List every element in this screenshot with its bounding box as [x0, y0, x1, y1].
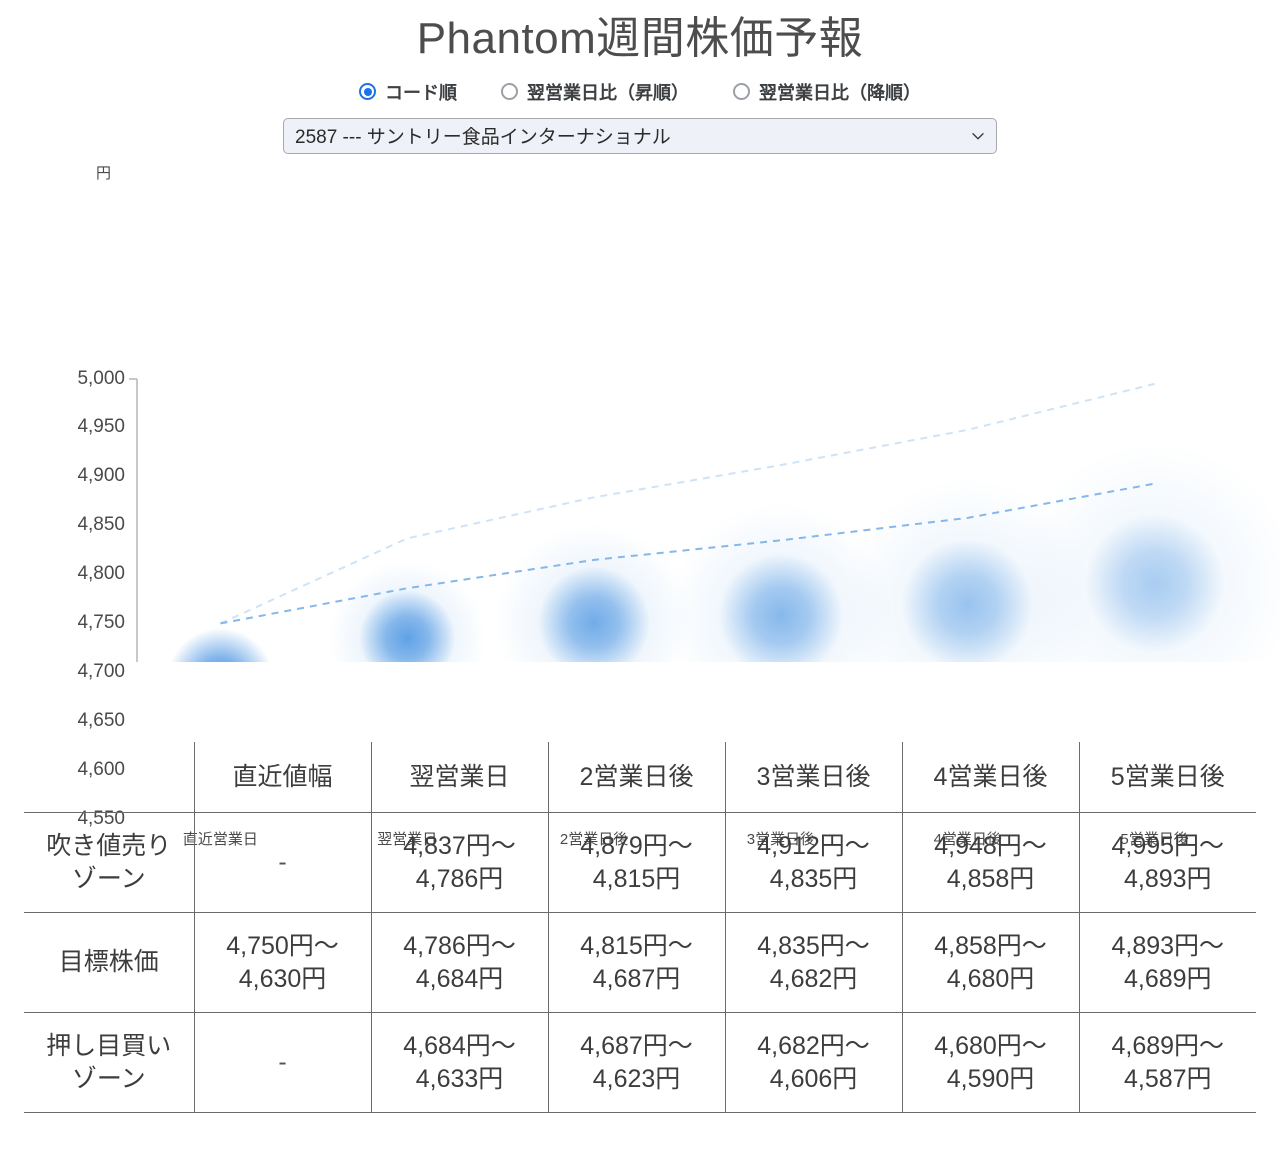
table-row-header: 目標株価 — [24, 913, 194, 1013]
cell-line1: 4,750円～ — [199, 930, 367, 963]
cell-line2: 4,786円 — [376, 863, 544, 896]
y-axis-tick: 4,900 — [45, 465, 125, 487]
sort-radio-label: 翌営業日比（昇順） — [527, 79, 689, 105]
sort-radio-group: コード順翌営業日比（昇順）翌営業日比（降順） — [0, 79, 1280, 105]
stock-select-value: 2587 --- サントリー食品インターナショナル — [295, 122, 963, 149]
cell-line2: 4,606円 — [730, 1063, 898, 1096]
cell-line1: 4,995円～ — [1084, 830, 1253, 863]
table-cell: 4,682円～4,606円 — [725, 1013, 902, 1113]
table-cell: 4,684円～4,633円 — [371, 1013, 548, 1113]
stock-select-wrap: 2587 --- サントリー食品インターナショナル — [0, 118, 1280, 154]
cell-line2: 4,633円 — [376, 1063, 544, 1096]
table-cell: 4,687円～4,623円 — [548, 1013, 725, 1113]
table-column-header: 直近値幅 — [194, 742, 371, 813]
cell-line1: 4,786円～ — [376, 930, 544, 963]
table-row-header: 吹き値売りゾーン — [24, 813, 194, 913]
table-cell: - — [194, 1013, 371, 1113]
radio-unselected-icon[interactable] — [501, 83, 518, 100]
table-cell: 4,786円～4,684円 — [371, 913, 548, 1013]
y-axis-tick: 4,850 — [45, 514, 125, 536]
chevron-down-icon — [971, 129, 985, 143]
cell-line2: 4,684円 — [376, 963, 544, 996]
table-column-header: 2営業日後 — [548, 742, 725, 813]
table-cell: 4,689円～4,587円 — [1079, 1013, 1256, 1113]
cell-line2: 4,835円 — [730, 863, 898, 896]
cell-line2: 4,590円 — [907, 1063, 1075, 1096]
table-header-row: 直近値幅翌営業日2営業日後3営業日後4営業日後5営業日後 — [24, 742, 1256, 813]
y-axis-unit-label: 円 — [96, 162, 111, 183]
cell-line2: 4,630円 — [199, 963, 367, 996]
page-title: Phantom週間株価予報 — [0, 0, 1280, 65]
sort-radio-option-2[interactable]: 翌営業日比（降順） — [733, 79, 921, 105]
table-cell: 4,879円～4,815円 — [548, 813, 725, 913]
table-cell: 4,835円～4,682円 — [725, 913, 902, 1013]
table-cell: 4,995円～4,893円 — [1079, 813, 1256, 913]
radio-selected-icon[interactable] — [359, 83, 376, 100]
cell-line1: 4,837円～ — [376, 830, 544, 863]
table-row: 目標株価4,750円～4,630円4,786円～4,684円4,815円～4,6… — [24, 913, 1256, 1013]
table-row: 吹き値売りゾーン-4,837円～4,786円4,879円～4,815円4,912… — [24, 813, 1256, 913]
table-column-header: 4営業日後 — [902, 742, 1079, 813]
cell-line1: 4,858円～ — [907, 930, 1075, 963]
stock-select[interactable]: 2587 --- サントリー食品インターナショナル — [283, 118, 997, 154]
table-cell: 4,858円～4,680円 — [902, 913, 1079, 1013]
forecast-bubble-chart: 円 5,0004,9504,9004,8504,8004,7504,7004,6… — [0, 162, 1280, 662]
table-cell: 4,680円～4,590円 — [902, 1013, 1079, 1113]
table-row-header: 押し目買いゾーン — [24, 1013, 194, 1113]
cell-line1: 4,815円～ — [553, 930, 721, 963]
cell-line2: 4,858円 — [907, 863, 1075, 896]
y-axis-tick: 4,950 — [45, 416, 125, 438]
table-cell: 4,815円～4,687円 — [548, 913, 725, 1013]
table-cell: 4,750円～4,630円 — [194, 913, 371, 1013]
cell-line1: - — [199, 846, 367, 879]
table-column-header: 翌営業日 — [371, 742, 548, 813]
cell-line1: 4,835円～ — [730, 930, 898, 963]
sort-radio-label: 翌営業日比（降順） — [759, 79, 921, 105]
forecast-table: 直近値幅翌営業日2営業日後3営業日後4営業日後5営業日後 吹き値売りゾーン-4,… — [24, 742, 1256, 1113]
row-header-line1: 目標株価 — [28, 946, 190, 979]
cell-line2: 4,689円 — [1084, 963, 1253, 996]
table-column-header: 3営業日後 — [725, 742, 902, 813]
cell-line2: 4,623円 — [553, 1063, 721, 1096]
cell-line2: 4,687円 — [553, 963, 721, 996]
cell-line2: 4,682円 — [730, 963, 898, 996]
row-header-line1: 吹き値売り — [28, 830, 190, 863]
row-header-line2: ゾーン — [28, 1063, 190, 1096]
y-axis-tick: 4,800 — [45, 563, 125, 585]
row-header-line2: ゾーン — [28, 863, 190, 896]
table-corner-cell — [24, 742, 194, 813]
cell-line1: 4,684円～ — [376, 1030, 544, 1063]
cell-line1: 4,893円～ — [1084, 930, 1253, 963]
cell-line1: 4,682円～ — [730, 1030, 898, 1063]
forecast-table-wrap: 直近値幅翌営業日2営業日後3営業日後4営業日後5営業日後 吹き値売りゾーン-4,… — [24, 742, 1256, 1113]
table-cell: 4,912円～4,835円 — [725, 813, 902, 913]
cell-line1: 4,689円～ — [1084, 1030, 1253, 1063]
cell-line2: 4,587円 — [1084, 1063, 1253, 1096]
row-header-line1: 押し目買い — [28, 1030, 190, 1063]
cell-line1: 4,680円～ — [907, 1030, 1075, 1063]
cell-line1: 4,912円～ — [730, 830, 898, 863]
y-axis-tick: 4,650 — [45, 710, 125, 732]
cell-line1: 4,687円～ — [553, 1030, 721, 1063]
cell-line1: - — [199, 1046, 367, 1079]
y-axis-tick: 4,700 — [45, 661, 125, 683]
cell-line1: 4,948円～ — [907, 830, 1075, 863]
cell-line1: 4,879円～ — [553, 830, 721, 863]
y-axis-tick: 4,750 — [45, 612, 125, 634]
sort-radio-label: コード順 — [385, 79, 457, 105]
table-column-header: 5営業日後 — [1079, 742, 1256, 813]
table-row: 押し目買いゾーン-4,684円～4,633円4,687円～4,623円4,682… — [24, 1013, 1256, 1113]
cell-line2: 4,815円 — [553, 863, 721, 896]
radio-unselected-icon[interactable] — [733, 83, 750, 100]
sort-radio-option-0[interactable]: コード順 — [359, 79, 457, 105]
table-cell: - — [194, 813, 371, 913]
table-cell: 4,948円～4,858円 — [902, 813, 1079, 913]
table-cell: 4,893円～4,689円 — [1079, 913, 1256, 1013]
cell-line2: 4,893円 — [1084, 863, 1253, 896]
cell-line2: 4,680円 — [907, 963, 1075, 996]
y-axis-tick: 5,000 — [45, 368, 125, 390]
table-cell: 4,837円～4,786円 — [371, 813, 548, 913]
sort-radio-option-1[interactable]: 翌営業日比（昇順） — [501, 79, 689, 105]
